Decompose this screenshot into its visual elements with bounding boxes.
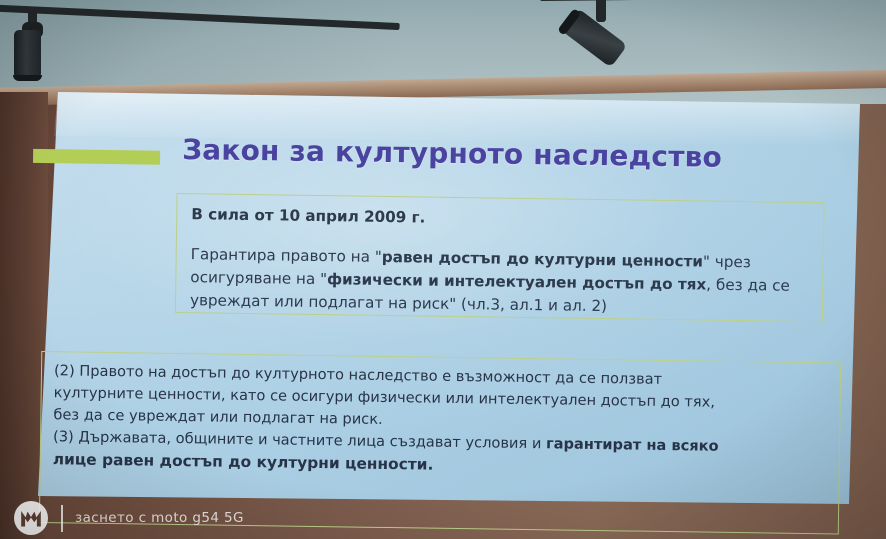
paragraph-text-bold-2: физически и интелектуален достъп до тях [327,270,706,293]
slide-textbox-top: В сила от 10 април 2009 г. Гарантира пра… [175,193,825,322]
clause-3-text-bold: гарантират на всяко [546,435,719,454]
watermark-text: заснето с moto g54 5G [75,510,244,526]
slide-content: Закон за културното наследство В сила от… [34,93,858,515]
camera-watermark: заснето с moto g54 5G [14,501,244,535]
paragraph-text-post-2: , без да се [706,276,790,295]
paragraph-text-pre: Гарантира правото на " [191,245,382,266]
projection-screen-area: Закон за културното наследство В сила от… [0,0,886,539]
paragraph-text-bold: равен достъп до културни ценности [382,248,703,271]
motorola-batwing-logo [14,501,48,535]
slide-title: Закон за културното наследство [182,133,722,174]
watermark-divider [61,505,63,532]
photo-canvas: Закон за културното наследство В сила от… [0,0,886,539]
paragraph-text-post: " чрез [703,253,751,272]
title-accent-bar [33,149,160,165]
paragraph-text-pre-2: осигуряване на " [190,268,327,288]
